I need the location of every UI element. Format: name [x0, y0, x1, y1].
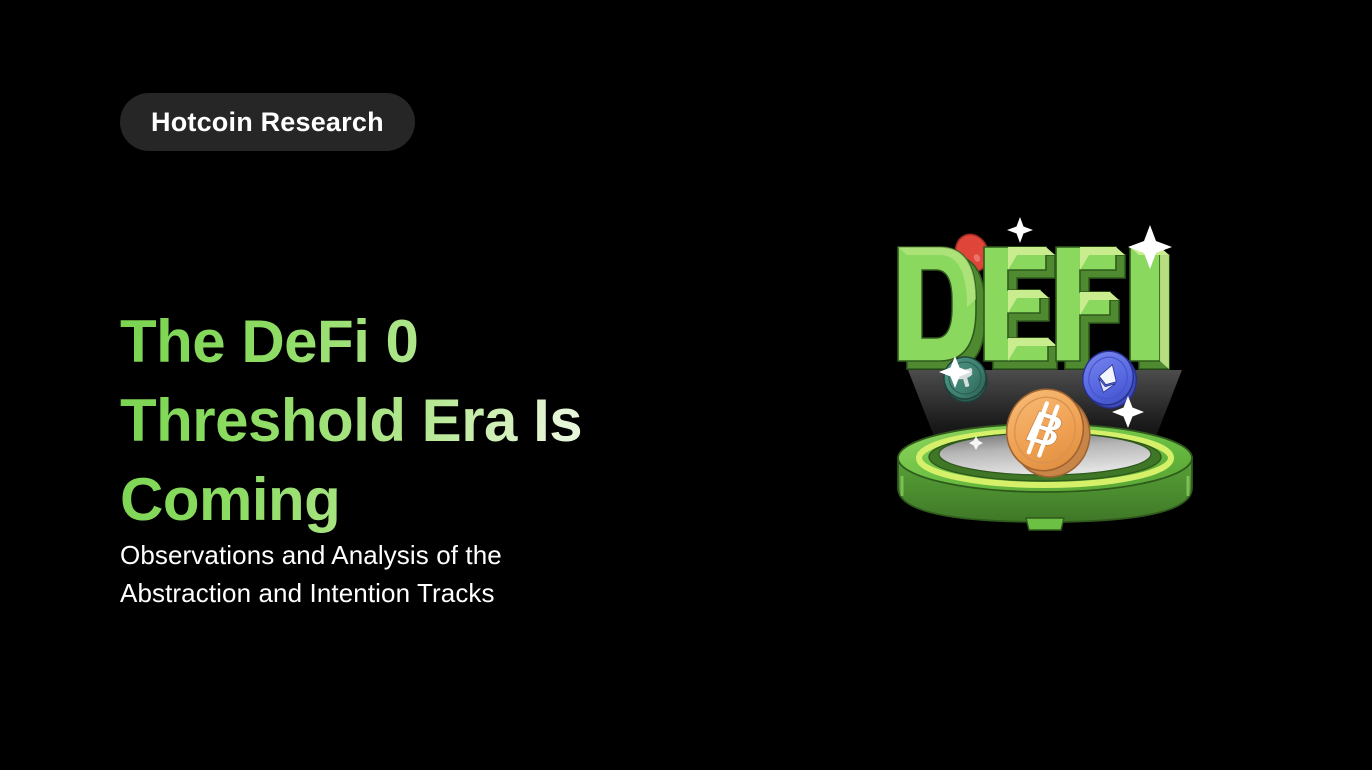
- page-subtitle-line-1: Observations and Analysis of the: [120, 540, 502, 570]
- page-subtitle: Observations and Analysis of the Abstrac…: [120, 536, 660, 612]
- page-subtitle-line-2: Abstraction and Intention Tracks: [120, 578, 495, 608]
- brand-badge: Hotcoin Research: [120, 93, 415, 151]
- page-title-line-1: The DeFi 0: [120, 308, 418, 375]
- page-title: The DeFi 0 Threshold Era Is Coming: [120, 302, 680, 539]
- brand-badge-label: Hotcoin Research: [151, 109, 384, 136]
- defi-3d-podium-illustration: B: [880, 200, 1210, 540]
- page-title-line-3: Coming: [120, 466, 340, 533]
- banner-root: Hotcoin Research The DeFi 0 Threshold Er…: [0, 0, 1372, 770]
- defi-word: [898, 229, 1169, 369]
- sparkle-top-small-icon: [1007, 217, 1033, 243]
- page-title-line-2: Threshold Era Is: [120, 387, 582, 454]
